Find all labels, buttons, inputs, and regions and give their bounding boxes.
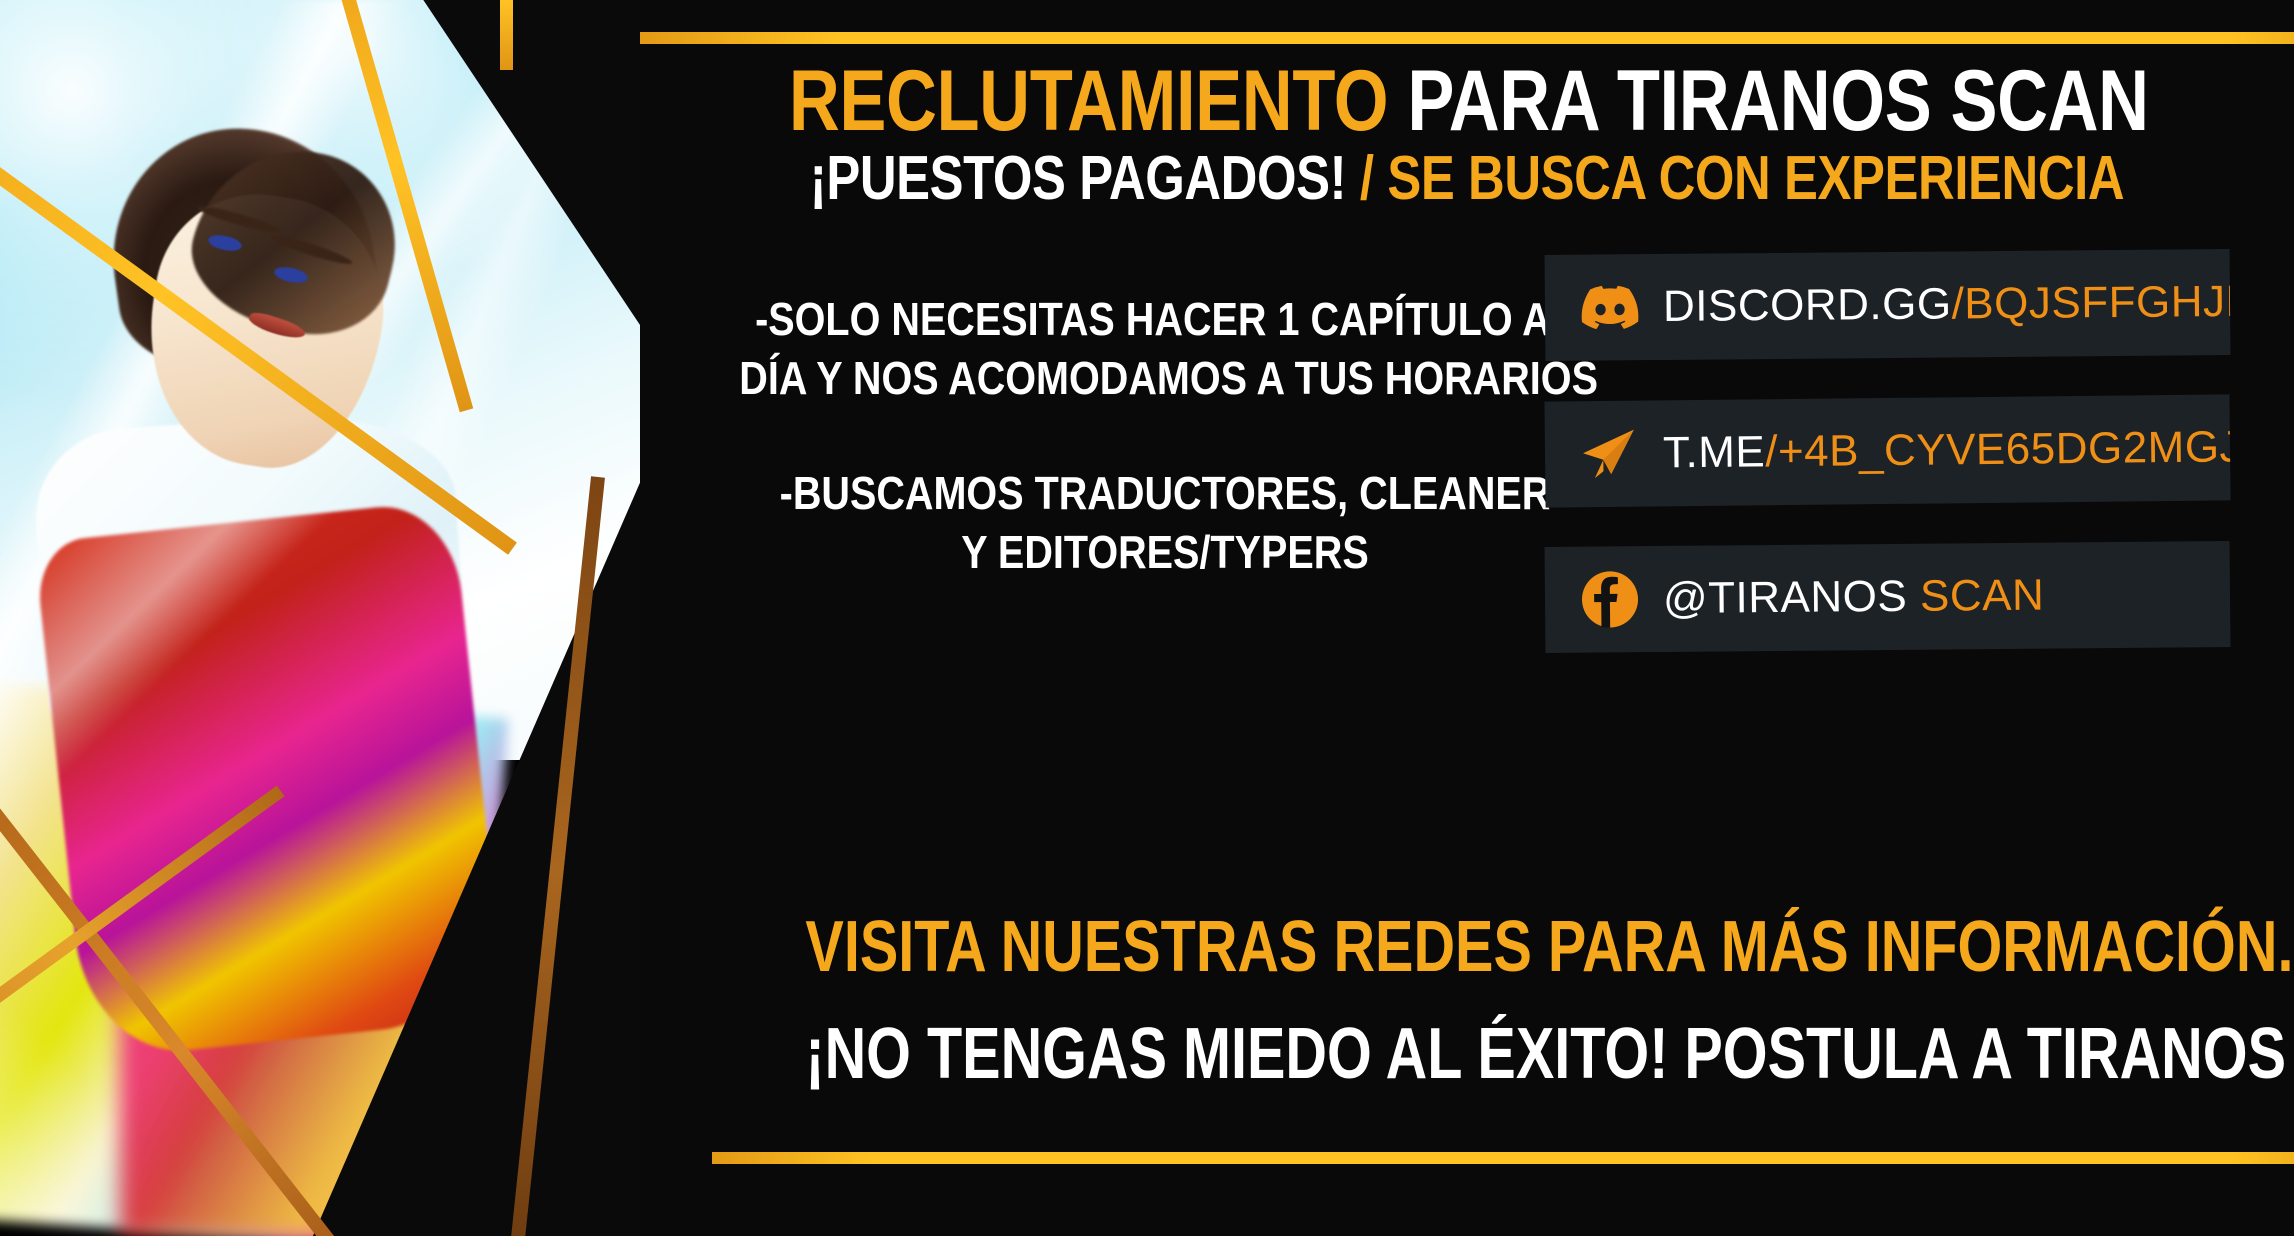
body-group-schedule: -SOLO NECESITAS HACER 1 CAPÍTULO AL DÍA … bbox=[670, 290, 1660, 408]
contact-telegram-domain: T.ME bbox=[1663, 427, 1766, 477]
body-line: Y EDITORES/TYPERS bbox=[739, 523, 1590, 582]
cta-line-primary: VISITA NUESTRAS REDES PARA MÁS INFORMACI… bbox=[805, 908, 2128, 987]
gold-vertical-edge bbox=[500, 0, 513, 70]
contact-telegram-code: /+4B_CYVE65DG2MGJH bbox=[1765, 422, 2231, 476]
body-group-roles: -BUSCAMOS TRADUCTORES, CLEANER Y EDITORE… bbox=[670, 464, 1660, 582]
recruitment-banner: RECLUTAMIENTO PARA TIRANOS SCAN ¡PUESTOS… bbox=[0, 0, 2294, 1236]
contact-telegram-text: T.ME/+4B_CYVE65DG2MGJH bbox=[1663, 422, 2231, 478]
page-title: RECLUTAMIENTO PARA TIRANOS SCAN bbox=[789, 58, 2145, 144]
subtitle-separator: / bbox=[1360, 144, 1374, 213]
title-rest: PARA TIRANOS SCAN bbox=[1407, 53, 2148, 149]
contact-facebook-suffix: SCAN bbox=[1920, 571, 2045, 621]
contact-telegram[interactable]: T.ME/+4B_CYVE65DG2MGJH bbox=[1544, 394, 2230, 507]
body-text-block: -SOLO NECESITAS HACER 1 CAPÍTULO AL DÍA … bbox=[670, 290, 1660, 582]
cta-line-secondary: ¡NO TENGAS MIEDO AL ÉXITO! POSTULA A TIR… bbox=[805, 1015, 2128, 1094]
contact-facebook-text: @TIRANOS SCAN bbox=[1663, 571, 2045, 624]
page-subtitle: ¡PUESTOS PAGADOS! / SE BUSCA CON EXPERIE… bbox=[789, 148, 2145, 210]
gold-rule-bottom bbox=[712, 1152, 2294, 1164]
contact-discord-domain: DISCORD.GG bbox=[1663, 279, 1952, 331]
contact-discord-code: /BQJSFFGHJD bbox=[1951, 277, 2230, 329]
contact-facebook[interactable]: @TIRANOS SCAN bbox=[1545, 541, 2231, 653]
content-panel: RECLUTAMIENTO PARA TIRANOS SCAN ¡PUESTOS… bbox=[640, 0, 2294, 1236]
facebook-icon bbox=[1579, 570, 1642, 629]
body-line: -BUSCAMOS TRADUCTORES, CLEANER bbox=[739, 464, 1590, 523]
call-to-action: VISITA NUESTRAS REDES PARA MÁS INFORMACI… bbox=[640, 908, 2294, 1094]
body-line: -SOLO NECESITAS HACER 1 CAPÍTULO AL bbox=[739, 290, 1590, 349]
telegram-icon bbox=[1579, 428, 1642, 481]
contact-discord[interactable]: DISCORD.GG/BQJSFFGHJD bbox=[1545, 249, 2231, 361]
gold-rule-top bbox=[640, 32, 2294, 44]
discord-icon bbox=[1579, 285, 1641, 330]
artwork-panel bbox=[0, 0, 640, 1236]
subtitle-experience-label: SE BUSCA CON EXPERIENCIA bbox=[1387, 144, 2124, 213]
body-line: DÍA Y NOS ACOMODAMOS A TUS HORARIOS bbox=[739, 349, 1590, 408]
contact-facebook-handle: @TIRANOS bbox=[1663, 572, 1908, 623]
contact-discord-text: DISCORD.GG/BQJSFFGHJD bbox=[1663, 277, 2231, 332]
subtitle-paid-label: ¡PUESTOS PAGADOS! bbox=[810, 144, 1346, 213]
contact-list: DISCORD.GG/BQJSFFGHJD T.ME/+4B_CYVE65DG2… bbox=[1545, 252, 2245, 690]
title-highlight: RECLUTAMIENTO bbox=[789, 53, 1388, 149]
